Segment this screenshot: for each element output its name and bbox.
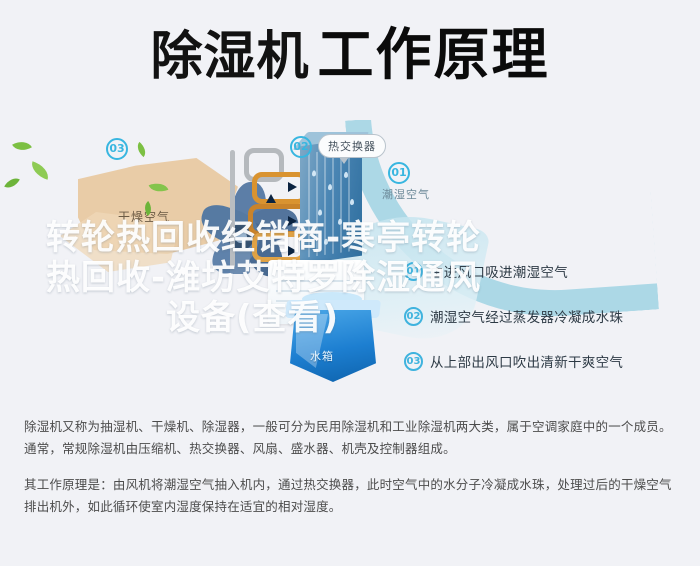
flow-arrow-icon <box>288 216 297 226</box>
steps-list: 01 由进风口吸进潮湿空气 02 潮湿空气经过蒸发器冷凝成水珠 03 从上部出风… <box>404 253 690 388</box>
body-copy: 除湿机又称为抽湿机、干燥机、除湿器，一般可分为民用除湿机和工业除湿机两大类，属于… <box>24 416 676 518</box>
diagram-badge-03: 03 <box>106 138 128 160</box>
diagram-badge-01: 01 <box>388 162 410 184</box>
step-label: 由进风口吸进潮湿空气 <box>430 261 568 281</box>
step-number: 02 <box>404 307 423 326</box>
step-label: 从上部出风口吹出清新干爽空气 <box>430 351 623 371</box>
refrigerant-pipe <box>252 232 306 262</box>
step-label: 潮湿空气经过蒸发器冷凝成水珠 <box>430 306 623 326</box>
flow-arrow-icon <box>266 194 276 203</box>
page-title: 除湿机 工作原理 <box>0 28 700 84</box>
flow-arrow-icon <box>288 246 297 256</box>
humid-air-label: 潮湿空气 <box>382 186 430 202</box>
title-secondary: 工作原理 <box>318 28 550 84</box>
fan-hub-inner <box>235 231 247 243</box>
step-number: 03 <box>404 352 423 371</box>
dry-air-label: 干燥空气 <box>118 208 170 225</box>
leaf-icon <box>28 161 51 180</box>
heat-exchanger-fins <box>304 146 358 258</box>
heat-exchanger-callout: 热交换器 <box>318 134 386 158</box>
poster-root: 除湿机 工作原理 干燥空气 <box>0 0 700 566</box>
step-number: 01 <box>404 262 423 281</box>
leaf-icon <box>4 174 20 191</box>
leaf-icon <box>134 142 150 157</box>
title-primary: 除湿机 <box>150 31 309 83</box>
leaf-icon <box>12 137 32 155</box>
refrigerant-pipe-vertical <box>230 150 235 268</box>
flow-arrow-icon <box>288 182 297 192</box>
paragraph-definition: 除湿机又称为抽湿机、干燥机、除湿器，一般可分为民用除湿机和工业除湿机两大类，属于… <box>24 416 676 460</box>
diagram-badge-02: 02 <box>290 136 312 158</box>
list-item: 01 由进风口吸进潮湿空气 <box>404 253 690 289</box>
list-item: 02 潮湿空气经过蒸发器冷凝成水珠 <box>404 298 690 334</box>
water-tank-label: 水箱 <box>310 348 334 364</box>
paragraph-principle: 其工作原理是：由风机将潮湿空气抽入机内，通过热交换器，此时空气中的水分子冷凝成水… <box>24 474 676 518</box>
list-item: 03 从上部出风口吹出清新干爽空气 <box>404 343 690 379</box>
dehumidifier-diagram: 干燥空气 <box>0 120 700 400</box>
